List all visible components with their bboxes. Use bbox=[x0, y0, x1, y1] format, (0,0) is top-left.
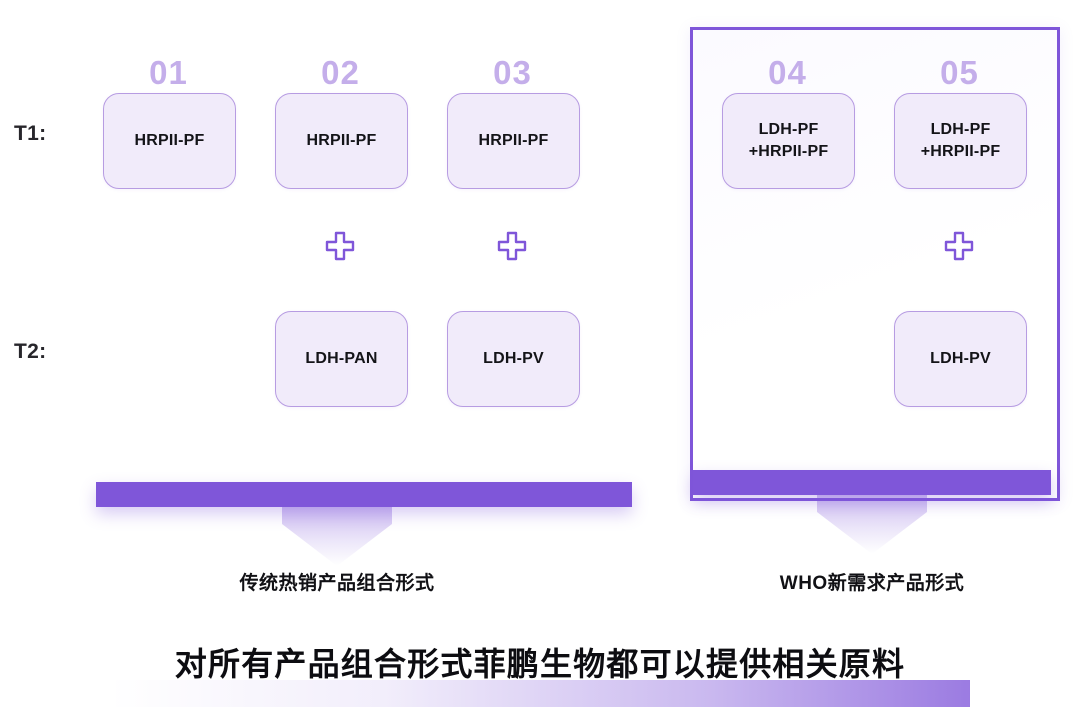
card-t2-03[interactable]: LDH-PV bbox=[447, 311, 580, 407]
plus-icon-02 bbox=[325, 231, 355, 261]
legacy-down-arrow-icon bbox=[282, 506, 392, 573]
headline-block: 对所有产品组合形式菲鹏生物都可以提供相关原料 bbox=[0, 632, 1080, 727]
step-number-01: 01 bbox=[103, 54, 234, 92]
who-group-caption: WHO新需求产品形式 bbox=[692, 568, 1052, 595]
card-t1-05[interactable]: LDH-PF +HRPII-PF bbox=[894, 93, 1027, 189]
step-number-03: 03 bbox=[447, 54, 578, 92]
card-t1-02-label: HRPII-PF bbox=[306, 130, 376, 152]
card-t1-03-label: HRPII-PF bbox=[478, 130, 548, 152]
step-number-04: 04 bbox=[722, 54, 853, 92]
card-t1-02[interactable]: HRPII-PF bbox=[275, 93, 408, 189]
card-t1-04-label: LDH-PF +HRPII-PF bbox=[749, 119, 829, 163]
row-label-t2: T2: bbox=[14, 340, 46, 364]
row-label-t1: T1: bbox=[14, 122, 46, 146]
plus-icon-03 bbox=[497, 231, 527, 261]
card-t2-02[interactable]: LDH-PAN bbox=[275, 311, 408, 407]
step-number-02: 02 bbox=[275, 54, 406, 92]
headline-text: 对所有产品组合形式菲鹏生物都可以提供相关原料 bbox=[0, 632, 1080, 696]
card-t1-01[interactable]: HRPII-PF bbox=[103, 93, 236, 189]
who-summary-bar bbox=[693, 470, 1051, 495]
card-t2-03-label: LDH-PV bbox=[483, 348, 544, 370]
who-down-arrow-icon bbox=[817, 494, 927, 561]
plus-icon-05 bbox=[944, 231, 974, 261]
card-t2-05-label: LDH-PV bbox=[930, 348, 991, 370]
card-t1-03[interactable]: HRPII-PF bbox=[447, 93, 580, 189]
step-number-05: 05 bbox=[894, 54, 1025, 92]
legacy-group-caption: 传统热销产品组合形式 bbox=[157, 568, 517, 595]
slide-canvas: T1: T2: 01 02 03 04 05 HRPII-PF HRPII-PF… bbox=[0, 0, 1080, 727]
card-t2-02-label: LDH-PAN bbox=[305, 348, 377, 370]
card-t1-05-label: LDH-PF +HRPII-PF bbox=[921, 119, 1001, 163]
card-t1-04[interactable]: LDH-PF +HRPII-PF bbox=[722, 93, 855, 189]
card-t1-01-label: HRPII-PF bbox=[134, 130, 204, 152]
card-t2-05[interactable]: LDH-PV bbox=[894, 311, 1027, 407]
legacy-summary-bar bbox=[96, 482, 632, 507]
